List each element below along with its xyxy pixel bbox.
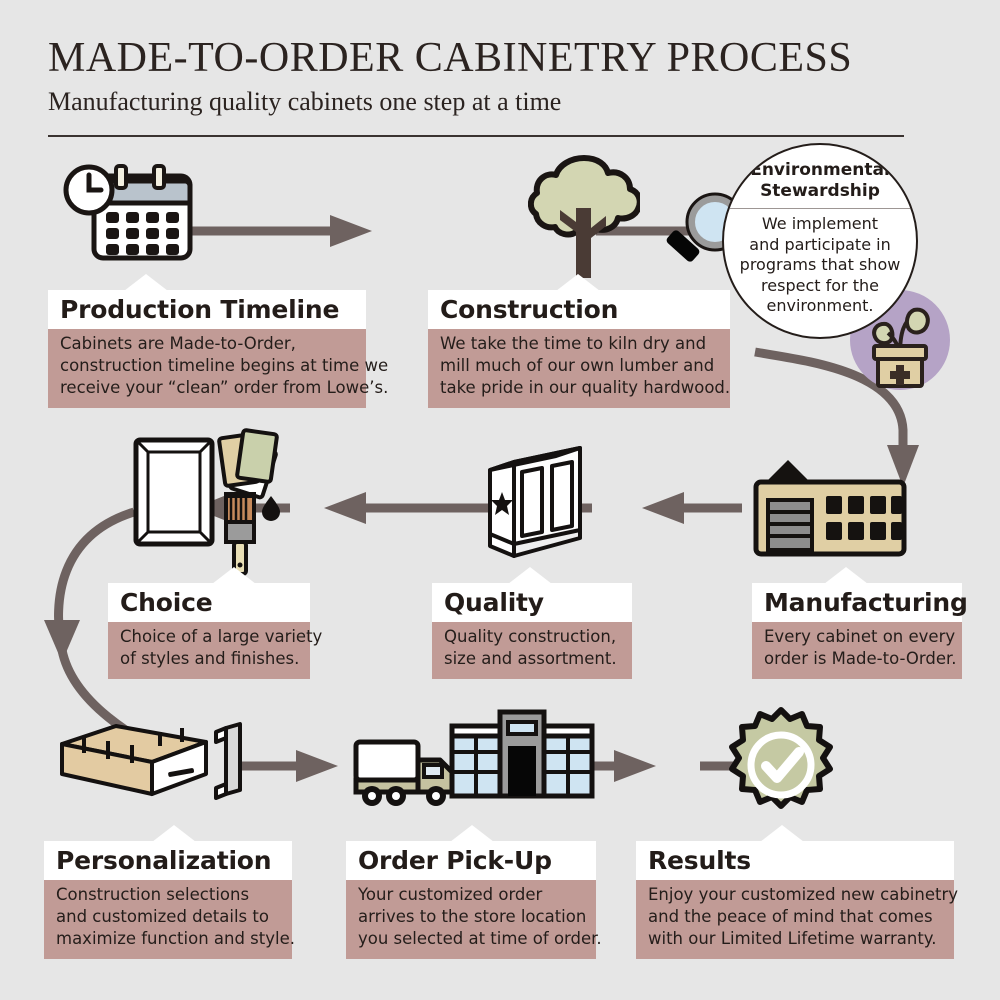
step-body: Quality construction, size and assortmen… — [432, 622, 632, 679]
step-body: Choice of a large variety of styles and … — [108, 622, 310, 679]
step-heading: Manufacturing — [752, 583, 962, 622]
step-heading: Construction — [428, 290, 730, 329]
header-divider — [48, 135, 904, 137]
page-header: MADE-TO-ORDER CABINETRY PROCESS Manufact… — [48, 34, 952, 118]
step-card-choice: Choice Choice of a large variety of styl… — [108, 583, 310, 679]
environmental-stewardship-callout: Environmental Stewardship We implement a… — [722, 143, 918, 339]
drawer-handle-icon — [56, 716, 252, 816]
step-body: Your customized order arrives to the sto… — [346, 880, 596, 959]
card-pointer — [824, 567, 868, 584]
step-heading: Choice — [108, 583, 310, 622]
infographic-canvas: MADE-TO-ORDER CABINETRY PROCESS Manufact… — [0, 0, 1000, 1000]
step-heading: Results — [636, 841, 954, 880]
card-pointer — [450, 825, 494, 842]
bar-pull-handle — [216, 724, 240, 798]
callout-title: Environmental Stewardship — [724, 145, 916, 208]
paint-drop-icon — [262, 496, 280, 521]
card-pointer — [556, 274, 600, 291]
door-frame-swatches-brush-icon — [130, 424, 296, 576]
store-icon — [448, 706, 596, 802]
callout-body: We implement and participate in programs… — [724, 209, 916, 317]
step-card-order-pick-up: Order Pick-Up Your customized order arri… — [346, 841, 596, 959]
card-pointer — [152, 825, 196, 842]
step-card-results: Results Enjoy your customized new cabine… — [636, 841, 954, 959]
page-title: MADE-TO-ORDER CABINETRY PROCESS — [48, 34, 952, 82]
step-body: We take the time to kiln dry and mill mu… — [428, 329, 730, 408]
step-body: Construction selections and customized d… — [44, 880, 292, 959]
page-subtitle: Manufacturing quality cabinets one step … — [48, 86, 952, 118]
tree-icon — [528, 152, 640, 280]
check-badge-icon — [722, 706, 840, 824]
step-card-manufacturing: Manufacturing Every cabinet on every ord… — [752, 583, 962, 679]
step-card-production-timeline: Production Timeline Cabinets are Made-to… — [48, 290, 366, 408]
card-pointer — [212, 567, 256, 584]
card-pointer — [124, 274, 168, 291]
step-card-construction: Construction We take the time to kiln dr… — [428, 290, 730, 408]
cabinet-icon — [478, 444, 596, 564]
calendar-clock-icon — [60, 162, 200, 274]
card-pointer — [760, 825, 804, 842]
step-card-quality: Quality Quality construction, size and a… — [432, 583, 632, 679]
card-pointer — [508, 567, 552, 584]
step-heading: Personalization — [44, 841, 292, 880]
step-card-personalization: Personalization Construction selections … — [44, 841, 292, 959]
step-heading: Quality — [432, 583, 632, 622]
factory-icon — [748, 452, 912, 560]
step-heading: Production Timeline — [48, 290, 366, 329]
paintbrush — [226, 492, 254, 574]
step-body: Every cabinet on every order is Made-to-… — [752, 622, 962, 679]
step-body: Enjoy your customized new cabinetry and … — [636, 880, 954, 959]
step-body: Cabinets are Made-to-Order, construction… — [48, 329, 366, 408]
step-heading: Order Pick-Up — [346, 841, 596, 880]
